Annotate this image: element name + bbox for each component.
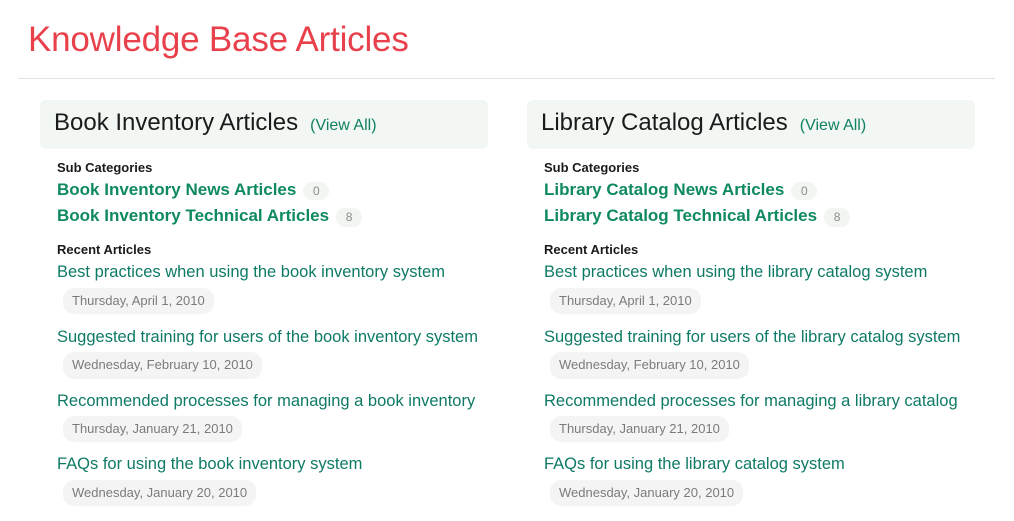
article-date: Thursday, January 21, 2010 <box>550 416 729 442</box>
list-item: FAQs for using the book inventory system… <box>57 451 488 506</box>
sub-category-link[interactable]: Book Inventory News Articles <box>57 177 296 203</box>
article-link[interactable]: FAQs for using the book inventory system <box>57 455 362 473</box>
article-date: Thursday, April 1, 2010 <box>63 288 214 314</box>
sub-category-row: Book Inventory News Articles 0 <box>57 177 488 203</box>
panel-header-title: Library Catalog Articles <box>541 109 788 138</box>
list-item: Best practices when using the library ca… <box>544 259 975 314</box>
panel-header-title: Book Inventory Articles <box>54 109 298 138</box>
sub-category-count-badge: 8 <box>824 208 850 226</box>
article-link[interactable]: Recommended processes for managing a boo… <box>57 392 475 410</box>
list-item: Best practices when using the book inven… <box>57 259 488 314</box>
panel-library-catalog: Library Catalog Articles (View All) Sub … <box>527 100 975 515</box>
panel-header: Book Inventory Articles (View All) <box>40 100 488 149</box>
sub-categories-label: Sub Categories <box>544 160 975 175</box>
article-date: Thursday, April 1, 2010 <box>550 288 701 314</box>
article-link[interactable]: Best practices when using the book inven… <box>57 263 445 281</box>
sub-categories-label: Sub Categories <box>57 160 488 175</box>
list-item: Suggested training for users of the book… <box>57 324 488 379</box>
panel-header: Library Catalog Articles (View All) <box>527 100 975 149</box>
recent-articles-label: Recent Articles <box>57 242 488 257</box>
article-link[interactable]: FAQs for using the library catalog syste… <box>544 455 845 473</box>
list-item: Recommended processes for managing a lib… <box>544 388 975 443</box>
sub-category-row: Book Inventory Technical Articles 8 <box>57 203 488 229</box>
list-item: Suggested training for users of the libr… <box>544 324 975 379</box>
article-date: Wednesday, January 20, 2010 <box>550 480 743 506</box>
recent-articles-label: Recent Articles <box>544 242 975 257</box>
article-link[interactable]: Suggested training for users of the book… <box>57 328 478 346</box>
sub-category-link[interactable]: Library Catalog News Articles <box>544 177 784 203</box>
list-item: FAQs for using the library catalog syste… <box>544 451 975 506</box>
list-item: Recommended processes for managing a boo… <box>57 388 488 443</box>
article-date: Wednesday, January 20, 2010 <box>63 480 256 506</box>
article-link[interactable]: Suggested training for users of the libr… <box>544 328 960 346</box>
sub-category-row: Library Catalog Technical Articles 8 <box>544 203 975 229</box>
article-date: Wednesday, February 10, 2010 <box>63 352 262 378</box>
article-date: Wednesday, February 10, 2010 <box>550 352 749 378</box>
article-link[interactable]: Best practices when using the library ca… <box>544 263 927 281</box>
article-link[interactable]: Recommended processes for managing a lib… <box>544 392 958 410</box>
page-title: Knowledge Base Articles <box>0 0 1014 57</box>
recent-articles-list: Best practices when using the book inven… <box>57 259 488 506</box>
sub-category-count-badge: 0 <box>791 182 817 200</box>
sub-category-count-badge: 8 <box>336 208 362 226</box>
sub-category-link[interactable]: Book Inventory Technical Articles <box>57 203 329 229</box>
article-date: Thursday, January 21, 2010 <box>63 416 242 442</box>
panel-book-inventory: Book Inventory Articles (View All) Sub C… <box>40 100 488 515</box>
sub-category-row: Library Catalog News Articles 0 <box>544 177 975 203</box>
view-all-link[interactable]: (View All) <box>800 117 866 135</box>
view-all-link[interactable]: (View All) <box>310 117 376 135</box>
sub-category-link[interactable]: Library Catalog Technical Articles <box>544 203 817 229</box>
sub-category-count-badge: 0 <box>303 182 329 200</box>
recent-articles-list: Best practices when using the library ca… <box>544 259 975 506</box>
panel-columns: Book Inventory Articles (View All) Sub C… <box>0 79 1014 515</box>
